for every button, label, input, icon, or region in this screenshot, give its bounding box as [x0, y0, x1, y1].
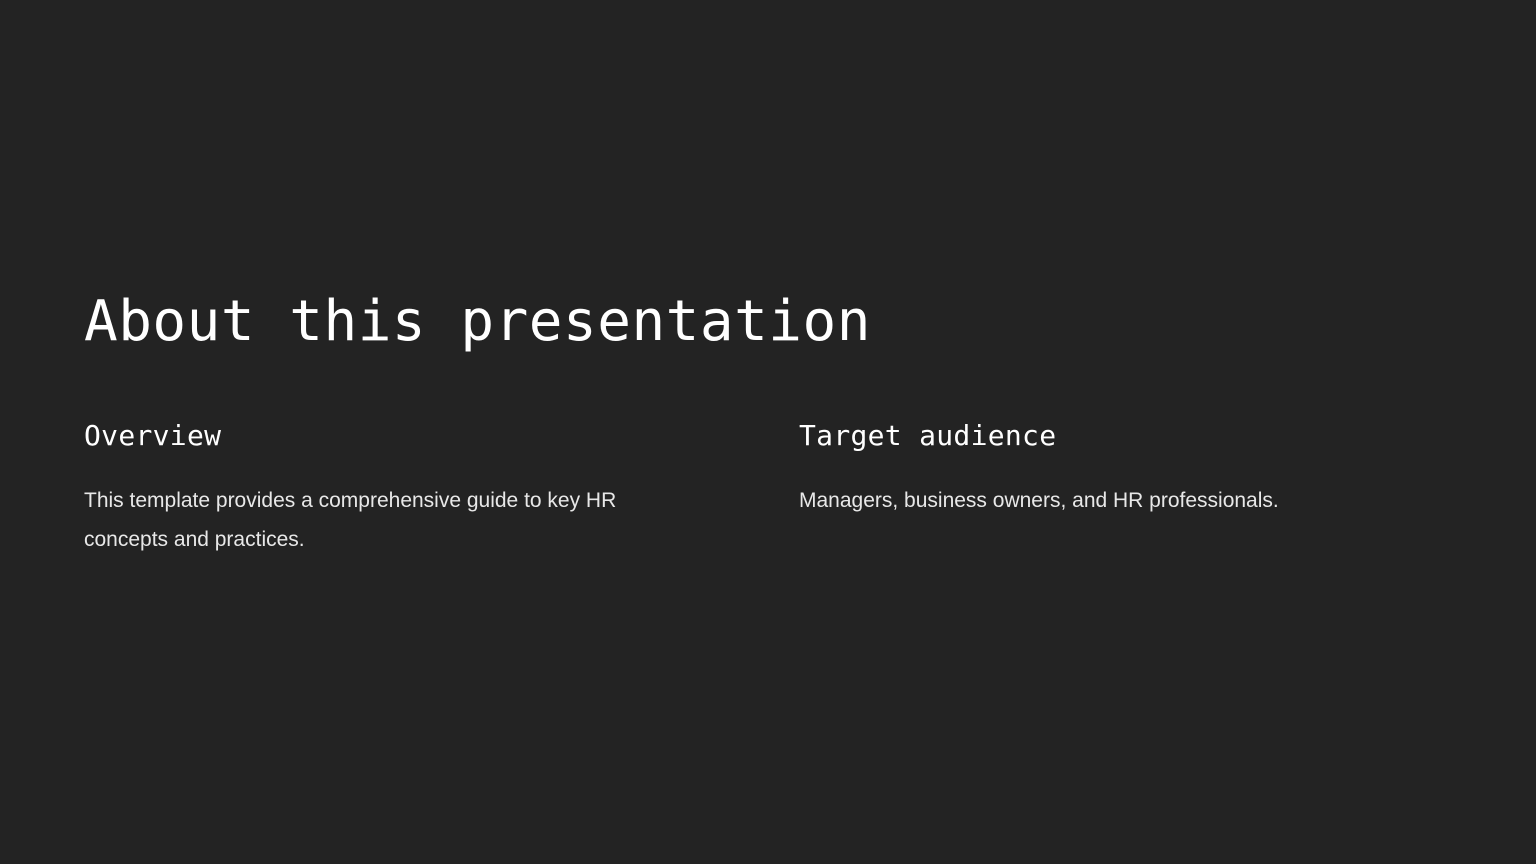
column-heading-overview: Overview	[84, 418, 684, 454]
presentation-slide: About this presentation Overview This te…	[0, 0, 1536, 864]
column-target-audience: Target audience Managers, business owner…	[799, 418, 1399, 520]
column-body-target-audience: Managers, business owners, and HR profes…	[799, 454, 1399, 520]
column-heading-target-audience: Target audience	[799, 418, 1399, 454]
column-overview: Overview This template provides a compre…	[84, 418, 684, 559]
column-body-overview: This template provides a comprehensive g…	[84, 454, 684, 559]
page-title: About this presentation	[84, 288, 871, 356]
content-columns: Overview This template provides a compre…	[84, 418, 1452, 559]
